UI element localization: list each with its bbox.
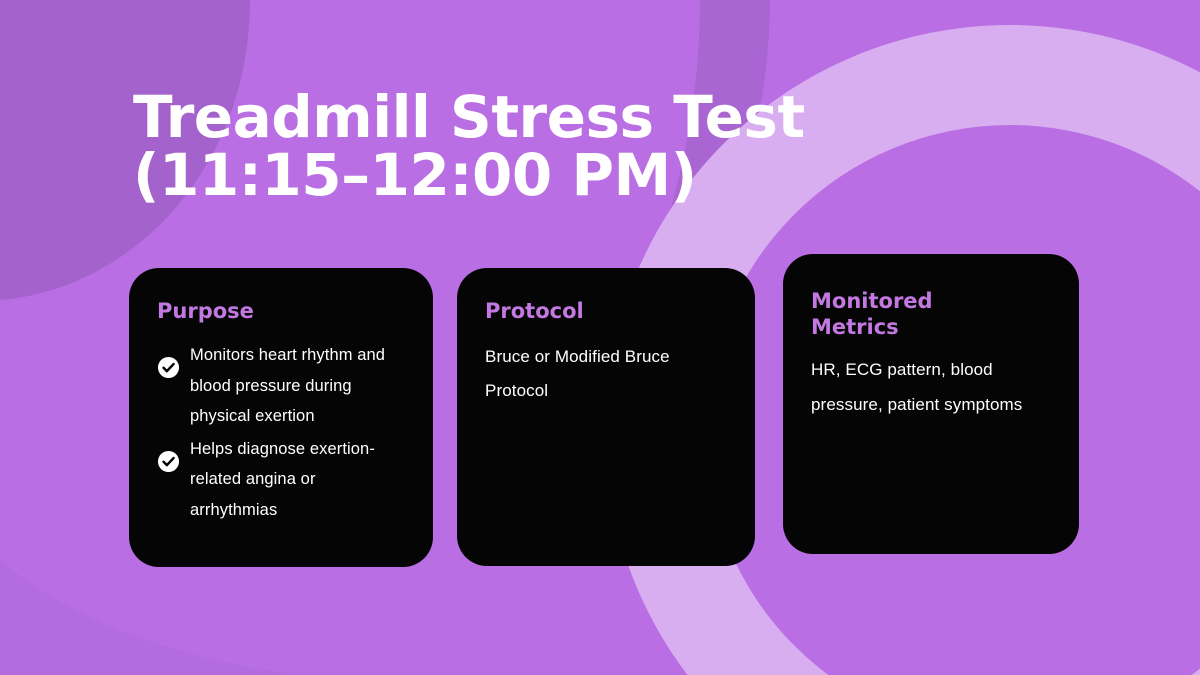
card-title: Purpose — [157, 298, 405, 324]
bullet-text: Monitors heart rhythm and blood pressure… — [190, 340, 405, 432]
slide-title-container: Treadmill Stress Test (11:15–12:00 PM) — [133, 88, 893, 204]
bullet-text: Helps diagnose exertion-related angina o… — [190, 434, 405, 526]
check-circle-icon — [157, 450, 180, 473]
list-item: Helps diagnose exertion-related angina o… — [157, 434, 405, 526]
card-protocol[interactable]: Protocol Bruce or Modified Bruce Protoco… — [457, 268, 755, 566]
list-item: Monitors heart rhythm and blood pressure… — [157, 340, 405, 432]
bullet-list: Monitors heart rhythm and blood pressure… — [157, 340, 405, 525]
slide-title: Treadmill Stress Test (11:15–12:00 PM) — [133, 88, 893, 204]
check-circle-icon — [157, 356, 180, 379]
card-purpose[interactable]: Purpose Monitors heart rhythm and blood … — [129, 268, 433, 567]
card-content: Monitored Metrics HR, ECG pattern, blood… — [783, 254, 1079, 422]
card-body-text: Bruce or Modified Bruce Protocol — [485, 340, 727, 408]
card-monitored-metrics[interactable]: Monitored Metrics HR, ECG pattern, blood… — [783, 254, 1079, 554]
card-title: Monitored Metrics — [811, 288, 1051, 340]
card-content: Purpose Monitors heart rhythm and blood … — [129, 268, 433, 525]
card-content: Protocol Bruce or Modified Bruce Protoco… — [457, 268, 755, 408]
card-title: Protocol — [485, 298, 727, 324]
card-body-text: HR, ECG pattern, blood pressure, patient… — [811, 352, 1051, 422]
